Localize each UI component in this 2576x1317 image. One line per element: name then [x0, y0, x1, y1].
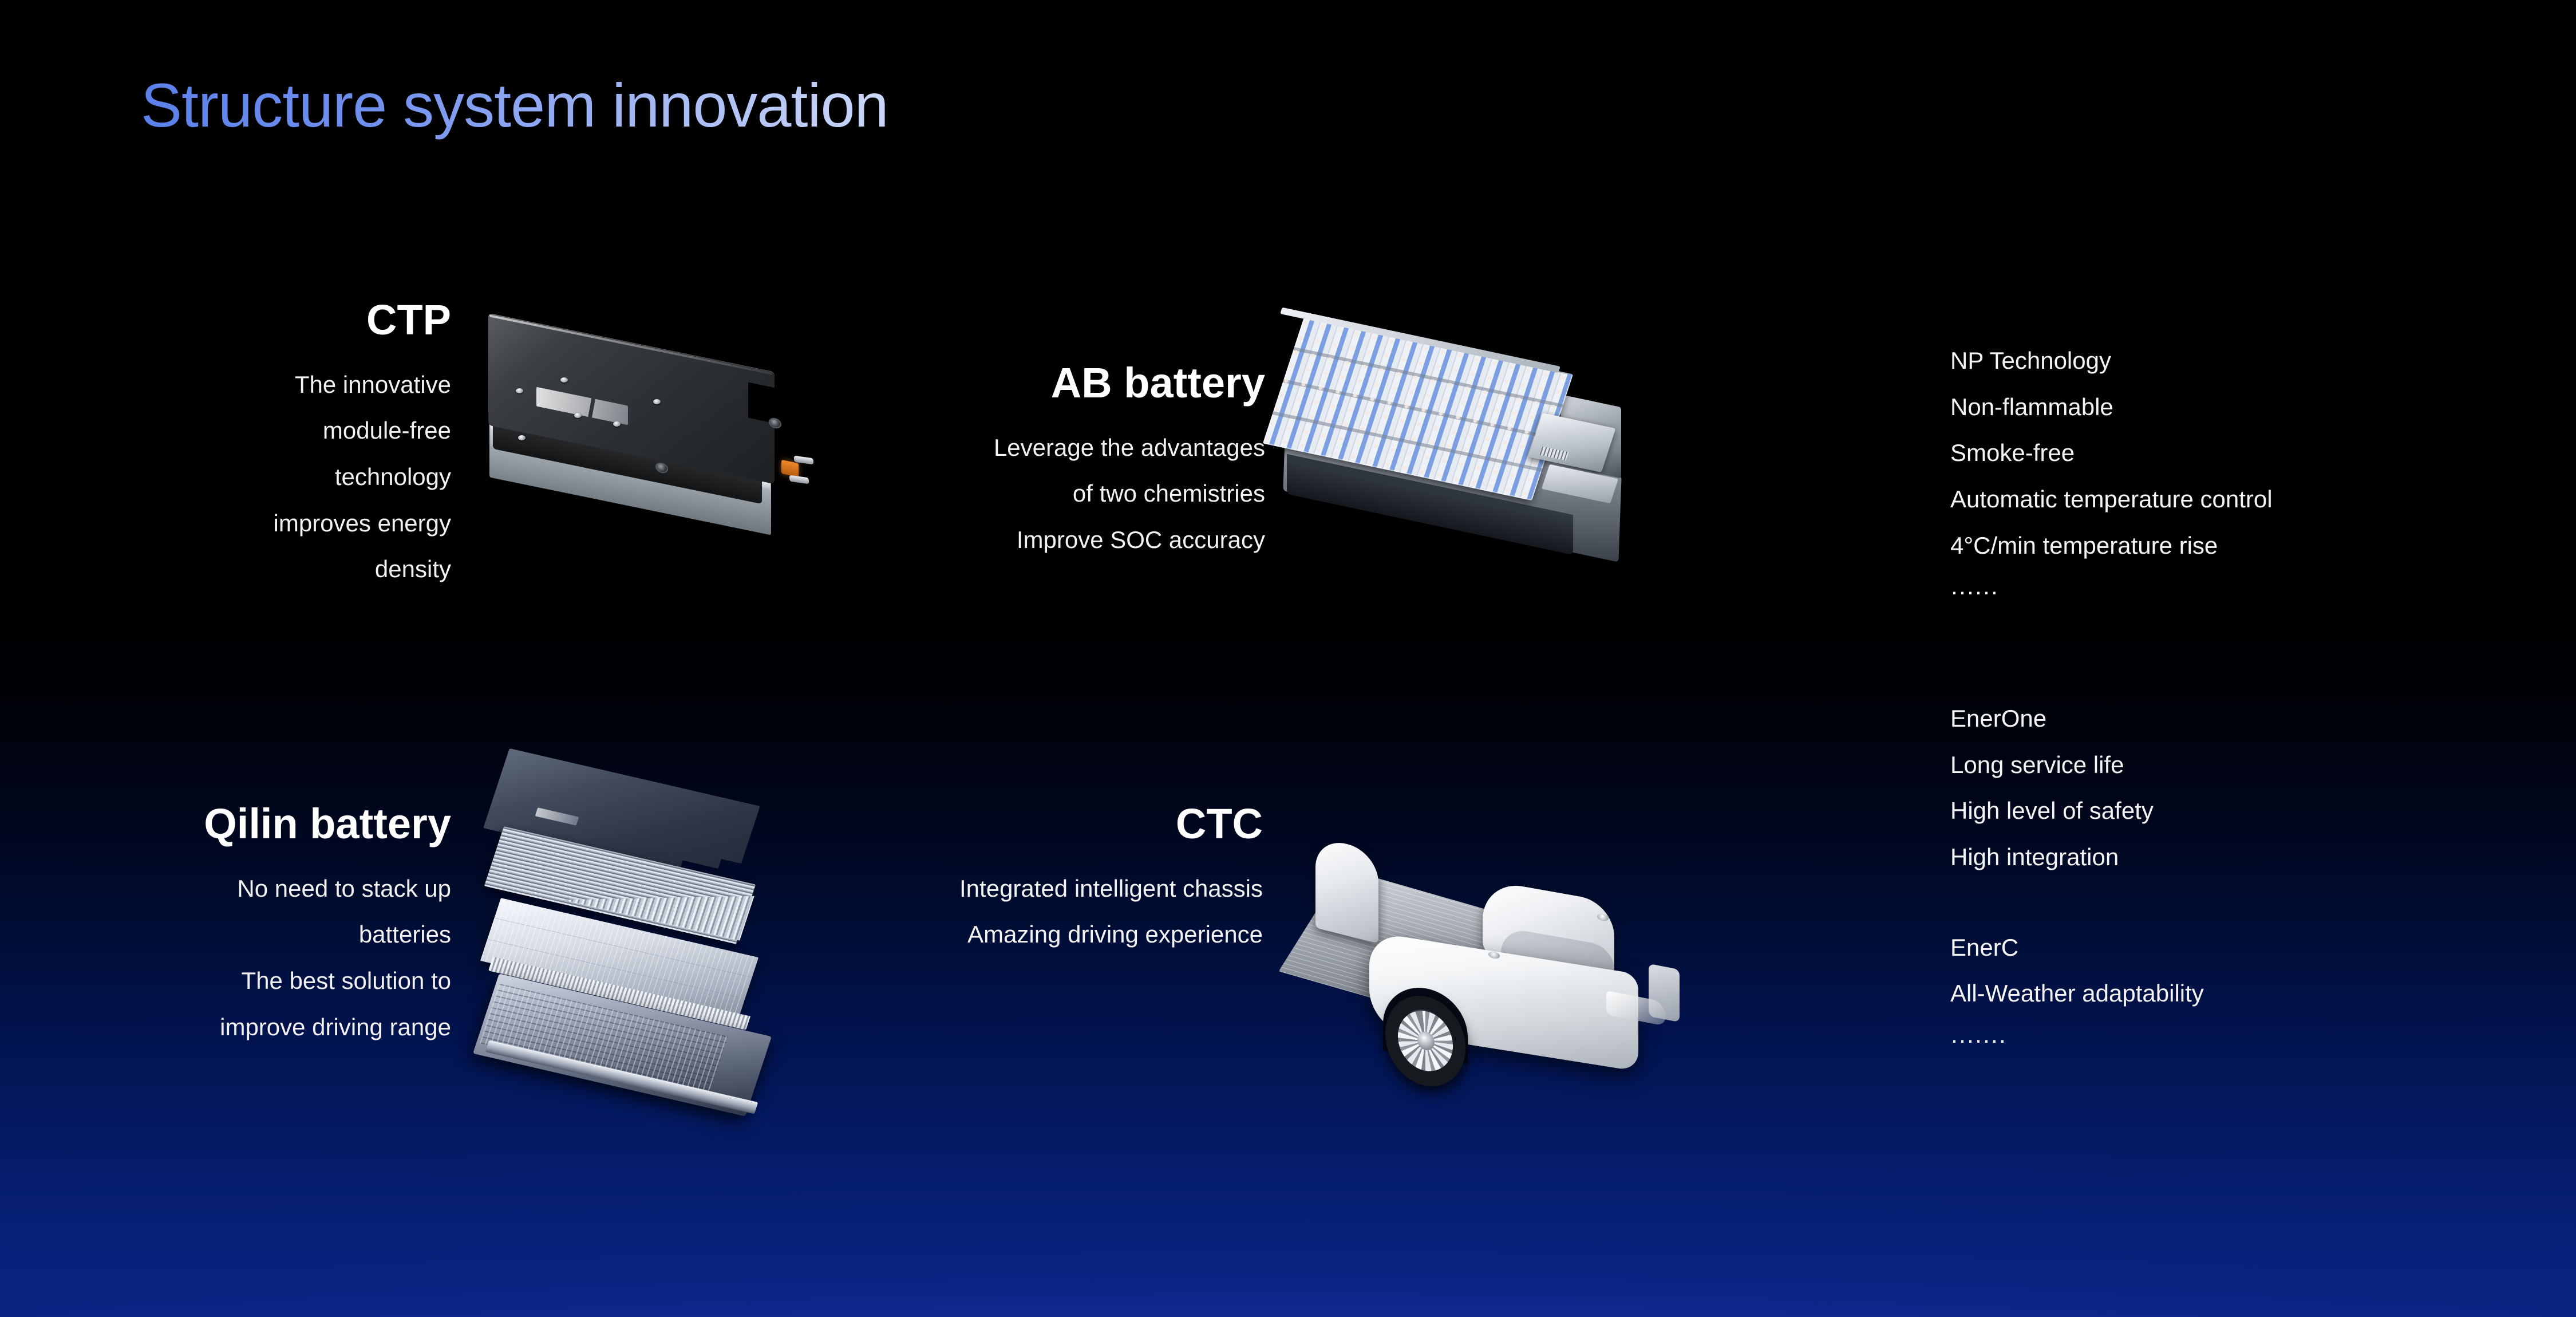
ctp-bolt: [653, 399, 661, 404]
ctp-bolt: [574, 413, 582, 418]
section-ab-line-3: Improve SOC accuracy: [738, 517, 1265, 563]
section-qilin-line-2: batteries: [74, 912, 451, 958]
feature-item: High integration: [1950, 834, 2204, 881]
section-ab-battery: AB battery Leverage the advantages of tw…: [738, 361, 1265, 563]
section-ab-description: Leverage the advantages of two chemistri…: [738, 425, 1265, 563]
section-ctp-description: The innovative module-free technology im…: [108, 362, 451, 593]
feature-item: Non-flammable: [1950, 384, 2273, 431]
section-qilin-line-3: The best solution to: [74, 958, 451, 1004]
ctp-bolt: [560, 377, 568, 383]
ctc-chassis-image: [1299, 825, 1689, 1111]
section-ctc: CTC Integrated intelligent chassis Amazi…: [853, 802, 1263, 958]
page-title: Structure system innovation: [141, 72, 888, 140]
section-ctp-line-2: module-free: [108, 408, 451, 454]
section-ctc-line-2: Amazing driving experience: [853, 912, 1263, 958]
feature-item: Smoke-free: [1950, 430, 2273, 476]
section-ctc-description: Integrated intelligent chassis Amazing d…: [853, 866, 1263, 958]
section-ctp-line-3: technology: [108, 454, 451, 500]
section-ctp: CTP The innovative module-free technolog…: [108, 298, 451, 593]
feature-list-enerone-enerc: EnerOne Long service life High level of …: [1950, 696, 2204, 1063]
feature-item: Automatic temperature control: [1950, 476, 2273, 523]
section-ctc-line-1: Integrated intelligent chassis: [853, 866, 1263, 912]
ctc-rear-pillar: [1315, 836, 1378, 943]
ctp-bolt: [516, 388, 523, 393]
feature-list-np-technology: NP Technology Non-flammable Smoke-free A…: [1950, 338, 2273, 615]
section-ctp-line-4: improves energy: [108, 500, 451, 547]
ab-battery-pack-image: [1277, 321, 1654, 550]
section-ctp-line-5: density: [108, 546, 451, 593]
ctp-bolt: [518, 435, 526, 440]
section-ab-line-1: Leverage the advantages: [738, 425, 1265, 471]
feature-item: All-Weather adaptability: [1950, 971, 2204, 1017]
qilin-battery-exploded-image: [484, 762, 793, 1117]
ctp-bolt: [613, 421, 621, 427]
section-qilin-battery: Qilin battery No need to stack up batter…: [74, 802, 451, 1050]
section-ab-heading: AB battery: [738, 361, 1265, 405]
section-ctc-heading: CTC: [853, 802, 1263, 846]
section-qilin-heading: Qilin battery: [74, 802, 451, 846]
section-qilin-line-4: improve driving range: [74, 1004, 451, 1051]
feature-item: NP Technology: [1950, 338, 2273, 384]
feature-list-ellipsis: ·······: [1950, 1017, 2204, 1063]
section-ab-line-2: of two chemistries: [738, 471, 1265, 517]
section-qilin-line-1: No need to stack up: [74, 866, 451, 912]
feature-list-spacer: [1950, 881, 2204, 925]
section-qilin-description: No need to stack up batteries The best s…: [74, 866, 451, 1051]
feature-group-heading: EnerC: [1950, 925, 2204, 971]
feature-group-heading: EnerOne: [1950, 696, 2204, 742]
section-ctp-heading: CTP: [108, 298, 451, 342]
feature-item: 4°C/min temperature rise: [1950, 523, 2273, 569]
feature-list-ellipsis: ······: [1950, 569, 2273, 615]
feature-item: Long service life: [1950, 742, 2204, 788]
feature-item: High level of safety: [1950, 788, 2204, 834]
section-ctp-line-1: The innovative: [108, 362, 451, 408]
